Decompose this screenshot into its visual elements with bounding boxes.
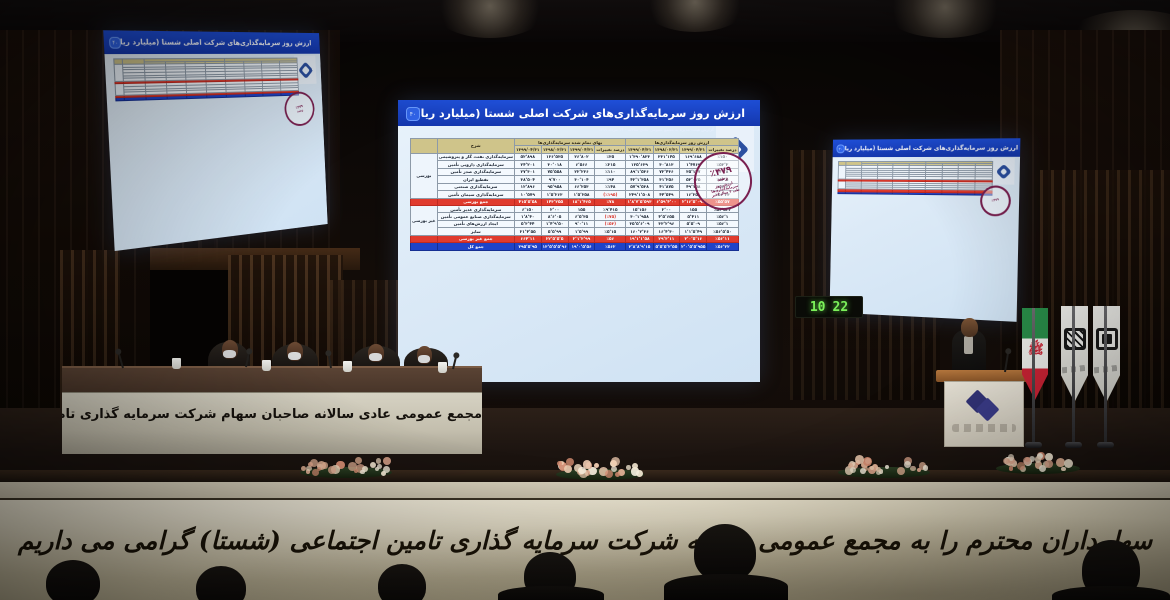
slide-header: ارزش روز سرمایه‌گذاری‌های شرکت اصلی شستا… xyxy=(103,30,320,54)
flower-blossom xyxy=(860,468,866,474)
projection-screen-right: ارزش روز سرمایه‌گذاری‌های شرکت اصلی شستا… xyxy=(830,138,1021,322)
slide-center: ارزش روز سرمایه‌گذاری‌های شرکت اصلی شستا… xyxy=(398,100,760,382)
table-cell: (٪۷۵) xyxy=(595,213,626,220)
podium-signature-mark xyxy=(952,424,1016,432)
table-row: ٪۵۶٬۶۳۱۶٬۲۵۱۴۴٬۵۴۹۲۴۹٬۱٬۵۰۸(٪۱۹۵)۱٬۵٬۲۵۸… xyxy=(411,191,739,198)
table-cell: ۱۳٬۵٬۵٬۵٬۹۶ xyxy=(541,243,568,250)
flower-blossom xyxy=(631,467,639,475)
flag-base xyxy=(1097,442,1114,448)
audience-shoulders xyxy=(1052,586,1170,600)
slide-right: ارزش روز سرمایه‌گذاری‌های شرکت اصلی شستا… xyxy=(830,138,1021,322)
table-cell: ٪۵۶۲ xyxy=(595,243,626,250)
table-cell xyxy=(893,192,909,194)
table-cell: ۸۹٬۱٬۵۳۶ xyxy=(626,168,653,175)
iran-flag-cloth: ﷺ xyxy=(1022,308,1048,400)
table-cell: ٪۹٬۴۱۵ xyxy=(595,205,626,212)
table-cell: ۵۲٬۸۹۸ xyxy=(514,153,541,160)
table-cell: ۲۹۵٬۵٬۹۵ xyxy=(514,243,541,250)
flower-blossom xyxy=(1003,458,1009,464)
slide-table xyxy=(837,161,993,196)
table-row-label: جمع کل xyxy=(437,243,514,250)
auditorium-scene: ارزش روز سرمایه‌گذاری‌های شرکت اصلی شستا… xyxy=(0,0,1170,600)
table-cell: ۵۷٬۹٬۵۳۸ xyxy=(626,183,653,190)
flower-blossom xyxy=(301,466,306,471)
table-row: ٪۶۰٬۸۳۵٬۱۲۷۷۲٬۴۳۶۸۹٬۱٬۵۳۶٪۱۱۰۲۲٬۲۲۶۷۵٬۵۵… xyxy=(411,168,739,175)
slide-title: ارزش روز سرمایه‌گذاری‌های شرکت اصلی شستا… xyxy=(406,107,745,120)
flower-blossom xyxy=(328,466,336,474)
table-cell: ۳۱٬۲۵۶ xyxy=(653,176,680,183)
table-cell: ۲۶٬۸۰۲ xyxy=(568,153,595,160)
flower-blossom xyxy=(611,457,620,466)
table-side-spacer xyxy=(411,235,438,242)
growth-stamp-value: ٪۴۷۹ xyxy=(991,198,999,203)
table-row-label: تقطیع ایران xyxy=(437,176,514,183)
table-row-label xyxy=(845,191,861,193)
table-cell: ۲٬۱٬۳٬۹۹ xyxy=(568,235,595,242)
table-cell: ۳٬۰٬۵٬۱۶ xyxy=(680,235,707,242)
table-cell: ٪۱۴۸ xyxy=(595,183,626,190)
page-badge: ۴۰ xyxy=(109,37,121,49)
table-cell xyxy=(877,192,893,194)
face-mask xyxy=(223,350,236,358)
water-cup xyxy=(172,358,181,369)
panel-table-skirt: مجمع عمومی عادی سالانه صاحبان سهام شرکت … xyxy=(62,392,482,454)
flower-blossom xyxy=(626,465,631,470)
table-cell: ۳٬۸٬۸٬۹٬۱۵ xyxy=(626,243,653,250)
table-cell: ٪۵۶٬۱۱ xyxy=(707,235,738,242)
page-badge: ۴۰ xyxy=(836,144,844,153)
welcome-banner-text: سهامداران محترم را به مجمع عمومی سالانه … xyxy=(0,526,1170,555)
table-row: ٪۵۶٬۱۵٬۴۱۱۴٬۵٬۶۵۵۳۰٬۱٬۹۵۸(٪۷۵)۶٬۵٬۳۵۸٬۶٬… xyxy=(411,213,739,220)
table-cell: ۹٬۰٬۱۱ xyxy=(568,220,595,227)
table-cell: ۶٬۵٬۳۵ xyxy=(568,213,595,220)
table-cell: ۶٬۱۵۰ xyxy=(514,205,541,212)
group-header-value: ارزش روز سرمایه‌گذاری‌ها xyxy=(626,139,738,146)
table-cell: ۶۶٬۲۵۳ xyxy=(568,183,595,190)
welcome-banner: سهامداران محترم را به مجمع عمومی سالانه … xyxy=(0,498,1170,600)
water-cup xyxy=(262,360,271,371)
table-side-spacer xyxy=(116,98,125,101)
table-cell: ۵٬۵٬۹۹ xyxy=(541,228,568,235)
audience-head xyxy=(46,560,100,600)
flower-blossom xyxy=(923,465,929,471)
table-cell: ٪۵۶٬۵٬۵۰ xyxy=(707,228,738,235)
table-cell: ۲۷٬۳۰۱ xyxy=(514,168,541,175)
table-cell: ۶۶۴٬۱۱ xyxy=(514,235,541,242)
table-cell: ۲۴٬۲۰۱ xyxy=(514,161,541,168)
table-row-label: جمع غیر بورسی xyxy=(437,235,514,242)
table-cell: ۳۰٬۸۱۳ xyxy=(653,161,680,168)
water-cup xyxy=(343,361,352,372)
table-cell xyxy=(187,95,207,98)
flower-blossom xyxy=(870,466,874,470)
table-row: ٪۵۶٬۵٬۵۰۱٬۱٬۵٬۴۹۱۶٬۴٬۳۰۱۶۰٬۲٬۳۶٪۵٬۱۵۱٬۵٬… xyxy=(411,228,739,235)
table-cell: ۷۲٬۴۳۶ xyxy=(653,168,680,175)
table-row-label: جمع بورسی xyxy=(437,198,514,205)
flag-pole xyxy=(1032,308,1035,448)
table-cell: (٪۵۳) xyxy=(595,220,626,227)
flower-blossom xyxy=(615,472,620,477)
table-cell: ۱٬۳۹۰٬۸۳۳ xyxy=(626,153,653,160)
flower-arrangement xyxy=(556,454,644,480)
audience-shoulders xyxy=(664,574,788,600)
column-header: ۱۳۹۸/۰۳/۳۱ xyxy=(541,146,568,153)
table-cell: ۳۵٬۵٬۶٬۰۹ xyxy=(626,220,653,227)
table-cell xyxy=(207,95,226,98)
table-row: ٪۱۵۰۱۶۹٬۶۸۸۳۳۱٬۱۴۵۱٬۳۹۰٬۸۳۳٪۳۵۲۶٬۸۰۲۱۳۶٬… xyxy=(411,153,739,160)
flower-blossom xyxy=(383,457,391,465)
audience-head xyxy=(378,564,426,600)
slide-header: ارزش روز سرمایه‌گذاری‌های شرکت اصلی شستا… xyxy=(398,100,760,126)
slide-left: ارزش روز سرمایه‌گذاری‌های شرکت اصلی شستا… xyxy=(103,30,327,251)
table-cell: ٪۲۱۵ xyxy=(595,161,626,168)
slide-table xyxy=(113,58,299,102)
slide-table: ارزش روز سرمایه‌گذاری‌هابهای تمام شده سر… xyxy=(410,138,739,251)
table-cell: ۵٬۴۱۱ xyxy=(680,213,707,220)
clock-minutes: 22 xyxy=(833,300,849,315)
table-side-spacer xyxy=(838,191,845,193)
column-header: ۱۳۹۹/۰۴/۳۱ xyxy=(568,146,595,153)
flower-blossom xyxy=(1009,466,1013,470)
organization-flag-1 xyxy=(1058,306,1088,448)
table-cell: ٪۵٬۱۵ xyxy=(595,228,626,235)
water-cup xyxy=(438,362,447,373)
audience-shoulders xyxy=(498,586,604,600)
table-cell: ۴٬۵٬۶۵۵ xyxy=(653,213,680,220)
flower-blossom xyxy=(322,462,328,468)
table-cell: ۱۵٬۱۵۶ xyxy=(626,205,653,212)
flag-pole xyxy=(1104,306,1107,448)
table-row xyxy=(838,191,992,195)
table-cell xyxy=(909,192,925,194)
table-cell: ۳۸٬۵۰۴ xyxy=(514,176,541,183)
table-cell: ۱٬۱٬۵٬۴۹ xyxy=(680,228,707,235)
table-side-label xyxy=(115,84,124,95)
table-cell xyxy=(226,94,245,97)
slide-subtitle: گزارش هیئت مدیره به مجمع عمومی عادی سالا… xyxy=(598,127,714,132)
table-cell: ٪۵۶٬۲۲ xyxy=(707,243,738,250)
table-cell: ۱۵۵ xyxy=(568,205,595,212)
table-row: ٪۵۲٬۶۴۹٬۱۵۸۴۱٬۸۷۵۵۷٬۹٬۵۳۸٪۱۴۸۶۶٬۲۵۳۹۵٬۹۵… xyxy=(411,183,739,190)
flower-blossom xyxy=(583,460,592,469)
page-badge: ۴۰ xyxy=(406,107,420,121)
table-cell: ۱٬۸٬۷٬۵٬۵۹۳ xyxy=(626,198,653,205)
table-cell xyxy=(167,96,187,99)
group-header-side xyxy=(411,139,438,154)
flower-blossom xyxy=(1035,456,1042,463)
table-row-label: سرمایه‌گذاری نفت، گاز و پتروشیمی xyxy=(437,153,514,160)
table-cell: ۷۵٬۵۵۸ xyxy=(541,168,568,175)
column-header: ۱۳۹۹/۰۴/۳۱ xyxy=(626,146,653,153)
flower-blossom xyxy=(850,467,856,473)
table-cell: ۳۰٬۰۱۸ xyxy=(541,161,568,168)
flower-blossom xyxy=(566,458,574,466)
table-row: ٪۸۴٬۵۵۳٬۰۲۵۳۱٬۲۵۶۴۲٬۱٬۳۵۸٪۹۴۳۰٬۱۰۴۹٬۷۰۰۳… xyxy=(411,176,739,183)
table-row: ٪۵۶٬۵۴۲۱۵۵۲٬۰۰۱۵٬۱۵۶٪۹٬۴۱۵۱۵۵۲٬۰۰۶٬۱۵۰سر… xyxy=(411,205,739,212)
organization-flag-2 xyxy=(1090,306,1120,448)
table-cell: ۱۶۰٬۲٬۳۶ xyxy=(626,228,653,235)
table-cell xyxy=(958,192,975,194)
table-cell: ٪۳۵ xyxy=(595,153,626,160)
table-row-label: سرمایه‌گذاری صدر تأمین xyxy=(437,168,514,175)
table-cell xyxy=(925,192,941,194)
flower-arrangement xyxy=(838,452,930,478)
growth-stamp-label: رشد xyxy=(297,108,304,114)
table-side-spacer xyxy=(411,243,438,250)
projection-screen-center: ارزش روز سرمایه‌گذاری‌های شرکت اصلی شستا… xyxy=(398,100,760,382)
column-header: ۱۳۹۹/۰۴/۳۱ xyxy=(680,146,707,153)
table-side-spacer xyxy=(411,198,438,205)
table-cell: ۱۹٬۰٬۵٬۵۶ xyxy=(568,243,595,250)
face-mask xyxy=(369,353,382,361)
table-cell: ۴۱۵٬۵٬۵۸ xyxy=(514,198,541,205)
table-cell: (٪۱۹۵) xyxy=(595,191,626,198)
group-header-cost: بهای تمام شده سرمایه‌گذاری‌ها xyxy=(514,139,625,146)
table-cell: ۱۳۶٬۵۳۵ xyxy=(541,153,568,160)
table-row: ٪۵۶٬۱۵٬۵٬۰۹۳۳٬۲٬۹۶۳۵٬۵٬۶٬۰۹(٪۵۳)۹٬۰٬۱۱۱٬… xyxy=(411,220,739,227)
table-cell: ٪۹۴ xyxy=(595,176,626,183)
flower-blossom xyxy=(557,461,562,466)
flower-blossom xyxy=(594,463,599,468)
table-cell: ۹۵٬۹۵۸ xyxy=(541,183,568,190)
table-cell: ۲۲٬۲۲۶ xyxy=(568,168,595,175)
table-cell: ٪۵۶ xyxy=(595,235,626,242)
flower-blossom xyxy=(910,466,916,472)
face-mask xyxy=(288,352,301,360)
table-cell: ۱۲٬۸۹۶ xyxy=(514,183,541,190)
shasta-diamond-logo xyxy=(995,163,1011,179)
table-cell: ۱۲۵٬۶۳۹ xyxy=(626,161,653,168)
table-cell: ۹٬۷۰۰ xyxy=(541,176,568,183)
column-header: ۱۳۹۸/۰۳/۳۱ xyxy=(653,146,680,153)
table-row-label: ایجاد ارزش‌های تأمین xyxy=(437,220,514,227)
table-cell: ۴۴٬۵۴۹ xyxy=(653,191,680,198)
table-group-header-row: ارزش روز سرمایه‌گذاری‌هابهای تمام شده سر… xyxy=(411,139,739,146)
table-row: ٪۵۶٬۱۱۳٬۰٬۵٬۱۶۲۹٬۳٬۱۱۱۹٬۱٬۱٬۵۸٪۵۶۲٬۱٬۳٬۹… xyxy=(411,235,739,242)
table-cell xyxy=(942,192,959,194)
speaker-head xyxy=(961,318,978,337)
table-row-label xyxy=(124,97,146,100)
table-cell xyxy=(263,93,281,96)
table-row-label: سرمایه‌گذاری غدیر تأمین xyxy=(437,205,514,212)
table-row: ٪۵۳٬۲۱٬۴۷۶۹۳۰٬۸۱۳۱۲۵٬۶۳۹٪۲۱۵۶٬۵۶۶۳۰٬۰۱۸۲… xyxy=(411,161,739,168)
table-cell: ۳۰٬۱٬۹۵۸ xyxy=(626,213,653,220)
podium xyxy=(944,381,1024,447)
table-cell: ۲۴۹٬۱٬۵۰۸ xyxy=(626,191,653,198)
slide-header: ارزش روز سرمایه‌گذاری‌های شرکت اصلی شستا… xyxy=(833,138,1021,157)
digital-clock: 10 22 xyxy=(795,296,863,318)
table-side-label: بورسی xyxy=(411,153,438,198)
iran-flag: ﷺ xyxy=(1018,308,1048,448)
table-cell: ۱٬۵٬۲۶۳ xyxy=(541,191,568,198)
table-row-label: سرمایه‌گذاری سیمان تأمین xyxy=(437,191,514,198)
table-row-label: سرمایه‌گذاری صنعتی xyxy=(437,183,514,190)
column-header: ۱۳۹۹/۰۴/۳۱ xyxy=(514,146,541,153)
table-cell: ۵٬۳٬۴۴ xyxy=(514,220,541,227)
flower-arrangement xyxy=(300,452,392,478)
flower-blossom xyxy=(897,467,905,475)
table-cell: ۱۴۳٬۲۵۵ xyxy=(541,198,568,205)
slide-title: ارزش روز سرمایه‌گذاری‌های شرکت اصلی شستا… xyxy=(837,144,1018,152)
table-cell xyxy=(245,94,263,97)
flower-blossom xyxy=(605,470,613,478)
table-cell: ۱٬۵٬۹۹ xyxy=(568,228,595,235)
table-cell: ۲۱٬۴٬۵۵ xyxy=(514,228,541,235)
table-cell: ۱۵۵ xyxy=(680,205,707,212)
table-cell: ٪۷۸ xyxy=(595,198,626,205)
table-cell: ۶٬۵۶۶ xyxy=(568,161,595,168)
table-cell: ۱۰٬۵۷۹ xyxy=(514,191,541,198)
table-cell: ۲٬۰۰ xyxy=(541,205,568,212)
group-header-item: شرح xyxy=(437,139,514,154)
speaker-shirt xyxy=(964,336,973,354)
flag-pole xyxy=(1072,306,1075,448)
table-cell: ۳۳۱٬۱۴۵ xyxy=(653,153,680,160)
flower-blossom xyxy=(1064,459,1073,468)
table-cell: ۱۶٬۴٬۳۰ xyxy=(653,228,680,235)
table-cell: ۵٬۵٬۰۹ xyxy=(680,220,707,227)
flower-blossom xyxy=(376,458,382,464)
table-row: ٪۵۵٬۵۷۲٬۱۶٬۵٬۰۹۶۶٬۵۹٬۴٬۰۰۱٬۸٬۷٬۵٬۵۹۳٪۷۸۱… xyxy=(411,198,739,205)
table-cell: ۳۳٬۲٬۹۶ xyxy=(653,220,680,227)
clock-hours: 10 xyxy=(810,300,826,315)
table-cell: ۱۸٬۱٬۴۶۵ xyxy=(568,198,595,205)
flower-blossom xyxy=(1045,460,1052,467)
table-cell: ۵٬۵٬۵٬۲٬۵۵ xyxy=(653,243,680,250)
table-cell: ۱٬۸٬۴۰ xyxy=(514,213,541,220)
table-cell: ۲۲٬۵٬۵٬۵ xyxy=(541,235,568,242)
table-cell: ۲۹٬۳٬۱۱ xyxy=(653,235,680,242)
table-cell: ۸٬۶٬۰۵ xyxy=(541,213,568,220)
flower-blossom xyxy=(1061,467,1066,472)
column-header: درصد تغییرات xyxy=(595,146,626,153)
table-cell xyxy=(146,96,167,99)
table-cell: ۳۰٬۱۰۴ xyxy=(568,176,595,183)
flower-blossom xyxy=(354,469,358,473)
table-cell: ٪۵۶٬۱ xyxy=(707,213,738,220)
table-row-label: سایر xyxy=(437,228,514,235)
shasta-double-diamond-logo xyxy=(969,391,999,421)
iran-emblem-icon: ﷺ xyxy=(1028,344,1042,357)
table-row-label: سرمایه‌گذاری صنایع عمومی تأمین xyxy=(437,213,514,220)
table-row-label: سرمایه‌گذاری دارویی تأمین xyxy=(437,161,514,168)
flower-arrangement xyxy=(996,448,1080,474)
table-cell: ۲٬۰٬۵٬۵٬۹۵۵ xyxy=(680,243,707,250)
projection-screen-left: ارزش روز سرمایه‌گذاری‌های شرکت اصلی شستا… xyxy=(103,30,327,251)
table-cell: ۲٬۰۰ xyxy=(653,205,680,212)
table-side-label: غیر بورسی xyxy=(411,205,438,235)
table-cell: ٪۵۶٬۱ xyxy=(707,220,738,227)
table-cell: ۶٬۵۹٬۴٬۰۰ xyxy=(653,198,680,205)
table-cell: ۴۱٬۸۷۵ xyxy=(653,183,680,190)
slide-title: ارزش روز سرمایه‌گذاری‌های شرکت اصلی شستا… xyxy=(110,38,311,47)
flower-blossom xyxy=(855,455,864,464)
face-mask xyxy=(418,355,430,363)
panel-banner-text: مجمع عمومی عادی سالانه صاحبان سهام شرکت … xyxy=(62,407,482,422)
table-cell: ۱۹٬۱٬۱٬۵۸ xyxy=(626,235,653,242)
table-cell: ٪۱۱۰ xyxy=(595,168,626,175)
table-cell xyxy=(861,192,877,194)
table-cell: ۱٬۵٬۲۵۸ xyxy=(568,191,595,198)
table-row: ٪۵۶٬۲۲۲٬۰٬۵٬۵٬۹۵۵۵٬۵٬۵٬۲٬۵۵۳٬۸٬۸٬۹٬۱۵٪۵۶… xyxy=(411,243,739,250)
shasta-diamond-logo xyxy=(298,61,313,78)
table-cell: ۱٬۴٬۹٬۵۰ xyxy=(541,220,568,227)
flower-blossom xyxy=(632,463,638,469)
table-cell: ۴۲٬۱٬۳۵۸ xyxy=(626,176,653,183)
slide-logo xyxy=(992,158,1015,185)
